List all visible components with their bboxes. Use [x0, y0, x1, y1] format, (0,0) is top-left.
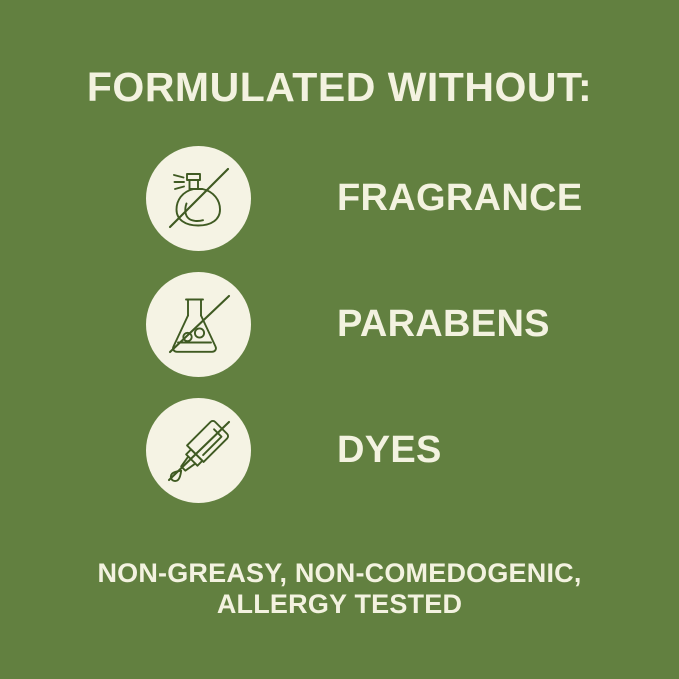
no-dropper-icon [146, 398, 251, 503]
list-item: PARABENS [0, 272, 679, 398]
claims-list: FRAGRANCE [0, 146, 679, 524]
footer-claims: NON-GREASY, NON-COMEDOGENIC, ALLERGY TES… [0, 558, 679, 620]
list-item: FRAGRANCE [0, 146, 679, 272]
footer-line-2: ALLERGY TESTED [0, 589, 679, 620]
no-flask-icon [146, 272, 251, 377]
list-item-label: DYES [337, 398, 442, 503]
formulated-without-infographic: FORMULATED WITHOUT: [0, 0, 679, 679]
list-item-label: PARABENS [337, 272, 550, 377]
no-fragrance-bottle-icon [146, 146, 251, 251]
list-item-label: FRAGRANCE [337, 146, 582, 251]
page-title: FORMULATED WITHOUT: [0, 64, 679, 110]
footer-line-1: NON-GREASY, NON-COMEDOGENIC, [0, 558, 679, 589]
list-item: DYES [0, 398, 679, 524]
